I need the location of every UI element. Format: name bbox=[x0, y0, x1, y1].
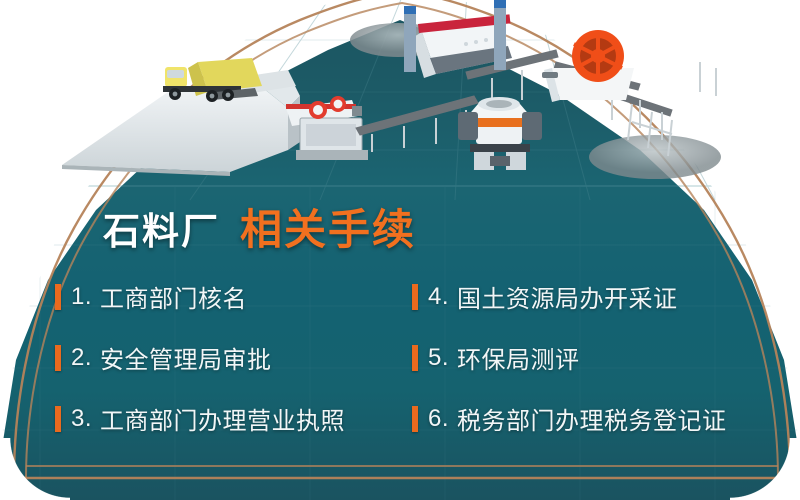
dump-truck-icon bbox=[163, 58, 262, 102]
list-item-index: 5. bbox=[428, 344, 449, 372]
list-item-index: 3. bbox=[71, 405, 92, 433]
list-item[interactable]: 4. 国土资源局办开采证 bbox=[412, 266, 764, 327]
procedure-row-1: 1. 工商部门核名 4. 国土资源局办开采证 bbox=[0, 266, 800, 327]
banner-stage: 石料厂 相关手续 1. 工商部门核名 4. 国土资源局办开采证 bbox=[0, 0, 800, 500]
cone-crusher-icon bbox=[458, 97, 542, 170]
list-item-label: 工商部门办理营业执照 bbox=[100, 401, 345, 436]
bullet-bar-icon bbox=[412, 284, 418, 310]
list-item-label: 税务部门办理税务登记证 bbox=[457, 401, 727, 436]
list-item[interactable]: 6. 税务部门办理税务登记证 bbox=[412, 388, 764, 449]
list-item[interactable]: 5. 环保局测评 bbox=[412, 327, 764, 388]
list-item-label: 环保局测评 bbox=[457, 340, 580, 375]
procedure-row-3: 3. 工商部门办理营业执照 6. 税务部门办理税务登记证 bbox=[0, 388, 800, 449]
list-item-index: 6. bbox=[428, 405, 449, 433]
list-item[interactable]: 3. 工商部门办理营业执照 bbox=[55, 388, 407, 449]
bullet-bar-icon bbox=[412, 406, 418, 432]
procedure-row-2: 2. 安全管理局审批 5. 环保局测评 bbox=[0, 327, 800, 388]
list-item-label: 国土资源局办开采证 bbox=[457, 279, 678, 314]
vibrating-screen-icon bbox=[404, 0, 512, 78]
title-accent: 相关手续 bbox=[240, 196, 416, 257]
list-item-label: 工商部门核名 bbox=[100, 279, 247, 314]
page-title: 石料厂 相关手续 bbox=[103, 196, 416, 257]
list-item-index: 2. bbox=[71, 344, 92, 372]
bullet-bar-icon bbox=[55, 406, 61, 432]
list-item-index: 4. bbox=[428, 283, 449, 311]
title-primary: 石料厂 bbox=[103, 201, 220, 255]
list-item-index: 1. bbox=[71, 283, 92, 311]
bullet-bar-icon bbox=[412, 345, 418, 371]
bullet-bar-icon bbox=[55, 345, 61, 371]
bullet-bar-icon bbox=[55, 284, 61, 310]
content-area: 石料厂 相关手续 1. 工商部门核名 4. 国土资源局办开采证 bbox=[0, 186, 800, 466]
stone-crushing-plant-scene bbox=[0, 0, 800, 200]
list-item[interactable]: 2. 安全管理局审批 bbox=[55, 327, 407, 388]
procedure-list: 1. 工商部门核名 4. 国土资源局办开采证 2. bbox=[0, 266, 800, 449]
list-item[interactable]: 1. 工商部门核名 bbox=[55, 266, 407, 327]
list-item-label: 安全管理局审批 bbox=[100, 340, 272, 375]
